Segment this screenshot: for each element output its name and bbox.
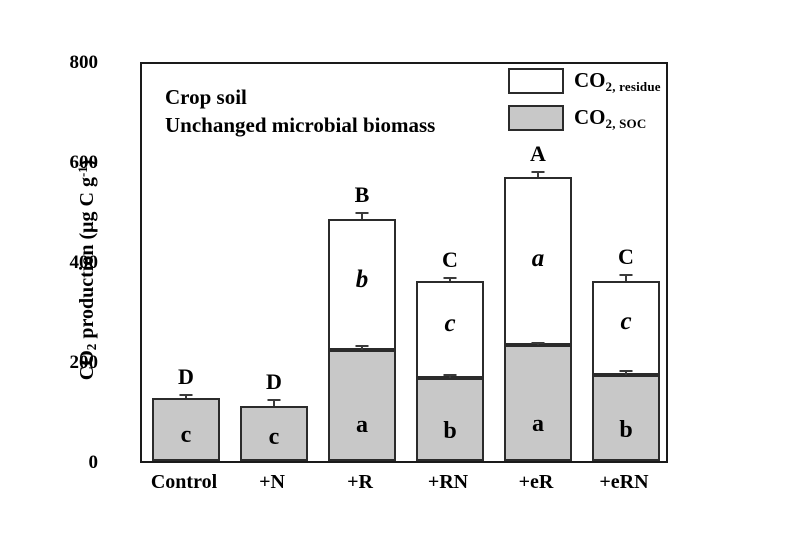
legend-swatch-co2-soc xyxy=(508,105,564,131)
chart-figure: CO2 production (μg C g-1) 800 600 400 20… xyxy=(0,0,796,556)
error-bar-cap-total xyxy=(356,212,369,214)
bar-label-soc: c xyxy=(152,423,220,447)
x-tick-label-control: Control xyxy=(140,472,228,492)
bar-label-residue: c xyxy=(416,311,484,336)
significance-letter: C xyxy=(592,246,660,268)
y-tick-label-400: 400 xyxy=(28,253,98,272)
y-tick-label-200: 200 xyxy=(28,353,98,372)
legend-label-co2-soc: CO2, SOC xyxy=(574,107,646,130)
bar-group-plus-ern[interactable]: bcC xyxy=(592,281,660,461)
significance-letter: C xyxy=(416,249,484,271)
legend-label-main-soc: CO xyxy=(574,105,606,129)
error-bar-cap-soc xyxy=(444,374,457,376)
annotation-line-2: Unchanged microbial biomass xyxy=(165,112,435,140)
error-bar-cap-soc xyxy=(356,345,369,347)
x-tick-label-plus-r: +R xyxy=(316,472,404,492)
legend-label-main-residue: CO xyxy=(574,68,606,92)
bar-group-plus-er[interactable]: aaA xyxy=(504,177,572,461)
significance-letter: B xyxy=(328,184,396,206)
bar-segment-soc[interactable] xyxy=(328,350,396,461)
annotation-line-1: Crop soil xyxy=(165,84,435,112)
x-tick-label-plus-er: +eR xyxy=(492,472,580,492)
legend-swatch-co2-residue xyxy=(508,68,564,94)
error-bar-cap-total xyxy=(180,394,193,396)
bar-group-plus-rn[interactable]: bcC xyxy=(416,281,484,461)
error-bar-total xyxy=(361,214,363,218)
legend-item-co2-soc: CO2, SOC xyxy=(508,103,661,133)
x-tick-label-plus-n: +N xyxy=(228,472,316,492)
error-bar-cap-total xyxy=(532,171,545,173)
x-tick-label-plus-ern: +eRN xyxy=(580,472,668,492)
bar-group-control[interactable]: cD xyxy=(152,398,220,461)
legend-label-co2-residue: CO2, residue xyxy=(574,70,661,93)
error-bar-total xyxy=(185,396,187,398)
bar-label-soc: b xyxy=(592,418,660,442)
bar-label-soc: b xyxy=(416,419,484,443)
significance-letter: D xyxy=(152,366,220,388)
x-tick-label-plus-rn: +RN xyxy=(404,472,492,492)
legend-label-sub-soc: 2, SOC xyxy=(606,115,647,130)
error-bar-cap-total xyxy=(268,399,281,401)
error-bar-cap-soc xyxy=(532,342,545,344)
error-bar-total xyxy=(449,279,451,281)
error-bar-total xyxy=(625,276,627,281)
error-bar-soc xyxy=(449,376,451,378)
error-bar-soc xyxy=(625,372,627,375)
legend-label-sub-residue: 2, residue xyxy=(606,78,661,93)
error-bar-soc xyxy=(537,344,539,345)
error-bar-soc xyxy=(361,347,363,350)
bar-group-plus-r[interactable]: abB xyxy=(328,219,396,461)
y-tick-label-600: 600 xyxy=(28,153,98,172)
plot-annotations: Crop soil Unchanged microbial biomass xyxy=(165,84,435,139)
significance-letter: A xyxy=(504,143,572,165)
y-tick-label-800: 800 xyxy=(28,53,98,72)
bar-label-soc: c xyxy=(240,425,308,449)
bar-label-residue: a xyxy=(504,246,572,271)
legend: CO2, residue CO2, SOC xyxy=(508,66,661,140)
bar-segment-soc[interactable] xyxy=(504,345,572,461)
bar-label-residue: b xyxy=(328,267,396,292)
bar-label-soc: a xyxy=(504,412,572,436)
error-bar-cap-soc xyxy=(620,370,633,372)
significance-letter: D xyxy=(240,371,308,393)
error-bar-total xyxy=(273,401,275,406)
bar-label-residue: c xyxy=(592,309,660,334)
y-tick-label-0: 0 xyxy=(28,453,98,472)
error-bar-cap-total xyxy=(620,274,633,276)
plot-area: Crop soil Unchanged microbial biomass CO… xyxy=(140,62,668,463)
bar-label-soc: a xyxy=(328,413,396,437)
error-bar-cap-total xyxy=(444,277,457,279)
error-bar-total xyxy=(537,173,539,177)
legend-item-co2-residue: CO2, residue xyxy=(508,66,661,96)
bar-group-plus-n[interactable]: cD xyxy=(240,406,308,461)
